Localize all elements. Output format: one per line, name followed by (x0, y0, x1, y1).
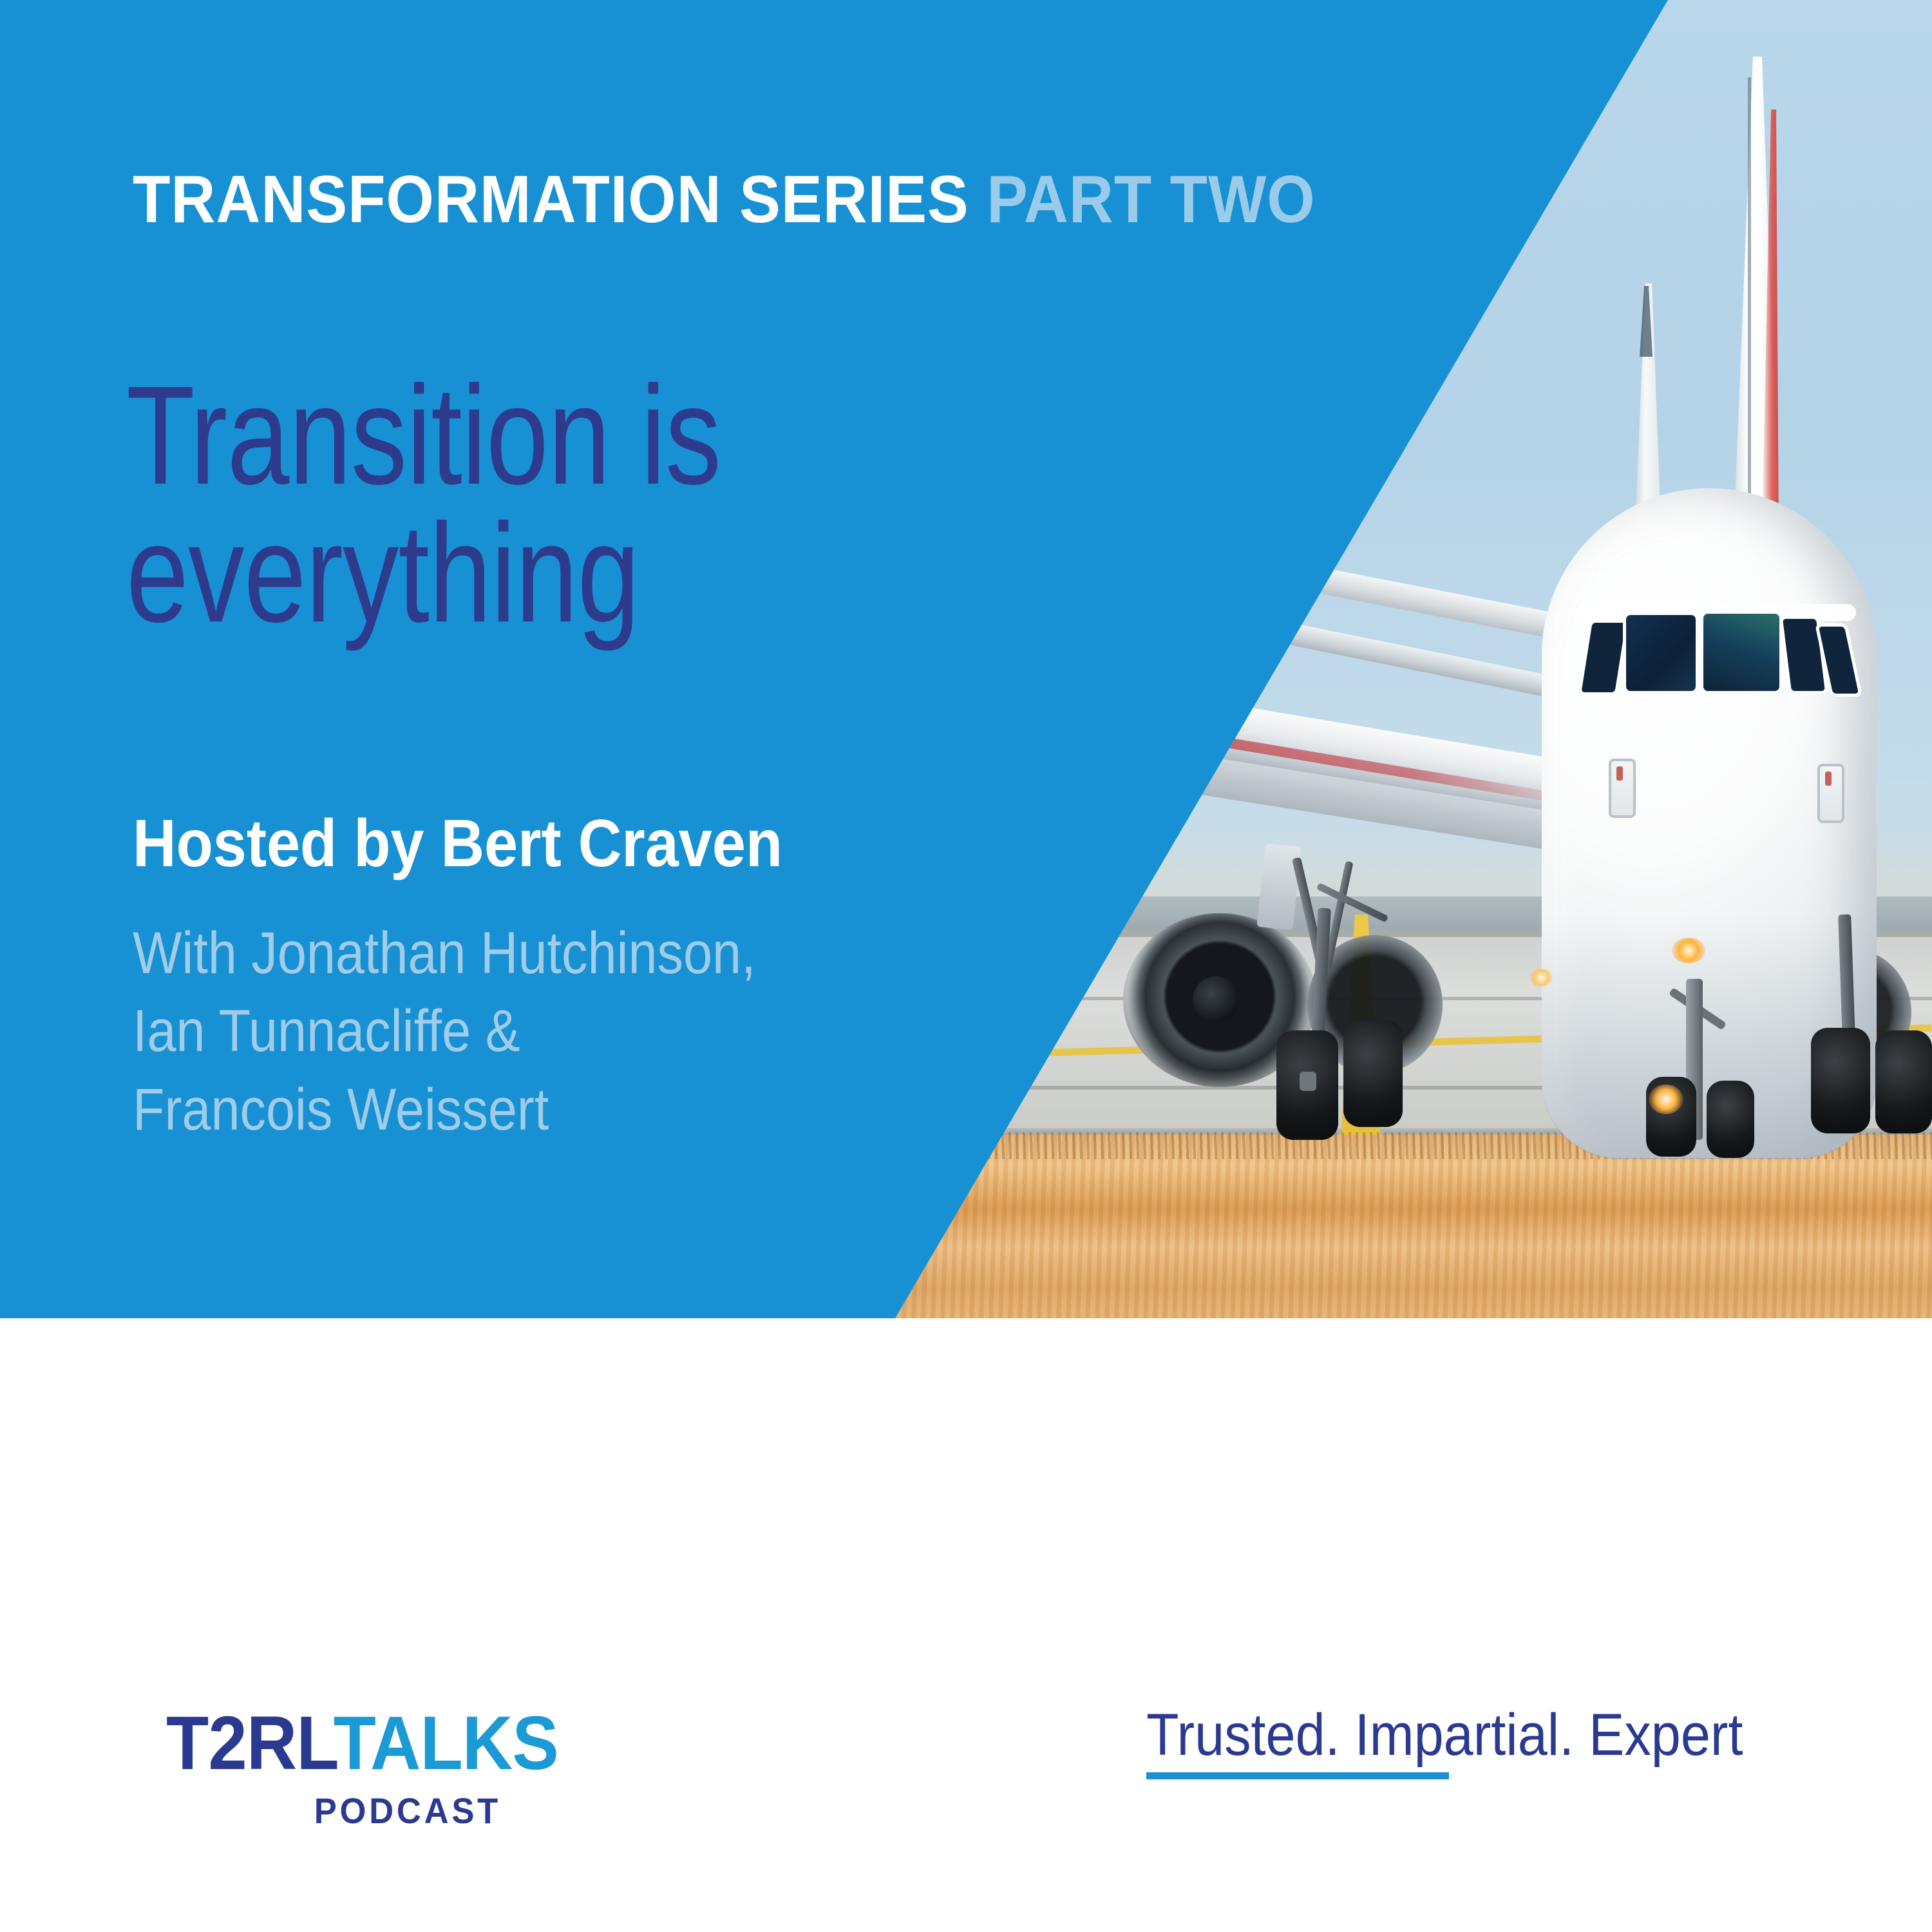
series-eyebrow: TRANSFORMATION SERIES PART TWO (133, 166, 1316, 233)
taxi-light (1649, 1084, 1683, 1114)
logo-talks: TALKS (334, 1701, 558, 1786)
door-marking (1825, 772, 1832, 786)
guest-line: Ian Tunnacliffe & (133, 992, 983, 1070)
cockpit-windshield-right (1700, 611, 1783, 694)
series-eyebrow-secondary: PART TWO (987, 162, 1315, 237)
cockpit-windshield-left (1623, 612, 1699, 694)
tail-fin-seam (1748, 77, 1751, 528)
guest-line: With Jonathan Hutchinson, (133, 914, 983, 992)
engine-spinner (1193, 976, 1239, 1023)
nose-landing-light (1672, 938, 1705, 963)
wing-landing-light (1530, 969, 1552, 987)
nose-gear-tire (1707, 1081, 1754, 1158)
logo-wordmark: T2RLTALKS (166, 1705, 558, 1781)
gear-axle (1300, 1072, 1316, 1091)
eyebrow-space (969, 162, 987, 237)
series-eyebrow-primary: TRANSFORMATION SERIES (133, 162, 969, 237)
main-gear-tire (1343, 1020, 1403, 1127)
host-line: Hosted by Bert Craven (133, 810, 782, 877)
logo-t2rl: T2RL (166, 1701, 334, 1786)
tagline-underline (1146, 1772, 1449, 1779)
guest-list: With Jonathan Hutchinson, Ian Tunnacliff… (133, 914, 983, 1149)
main-gear-tire (1875, 1030, 1932, 1133)
episode-title: Transition is everything (126, 367, 951, 642)
brand-tagline: Trusted. Impartial. Expert (1146, 1705, 1743, 1765)
dry-grass-foreground (889, 1135, 1932, 1318)
door-marking (1616, 766, 1623, 781)
main-gear-tire (1811, 1028, 1870, 1133)
podcast-cover-art: TRANSFORMATION SERIES PART TWO Transitio… (0, 0, 1932, 1932)
guest-line: Francois Weissert (133, 1071, 983, 1149)
t2rl-talks-podcast-logo: T2RLTALKS PODCAST (166, 1705, 592, 1829)
logo-podcast-subtitle: PODCAST (186, 1793, 501, 1829)
